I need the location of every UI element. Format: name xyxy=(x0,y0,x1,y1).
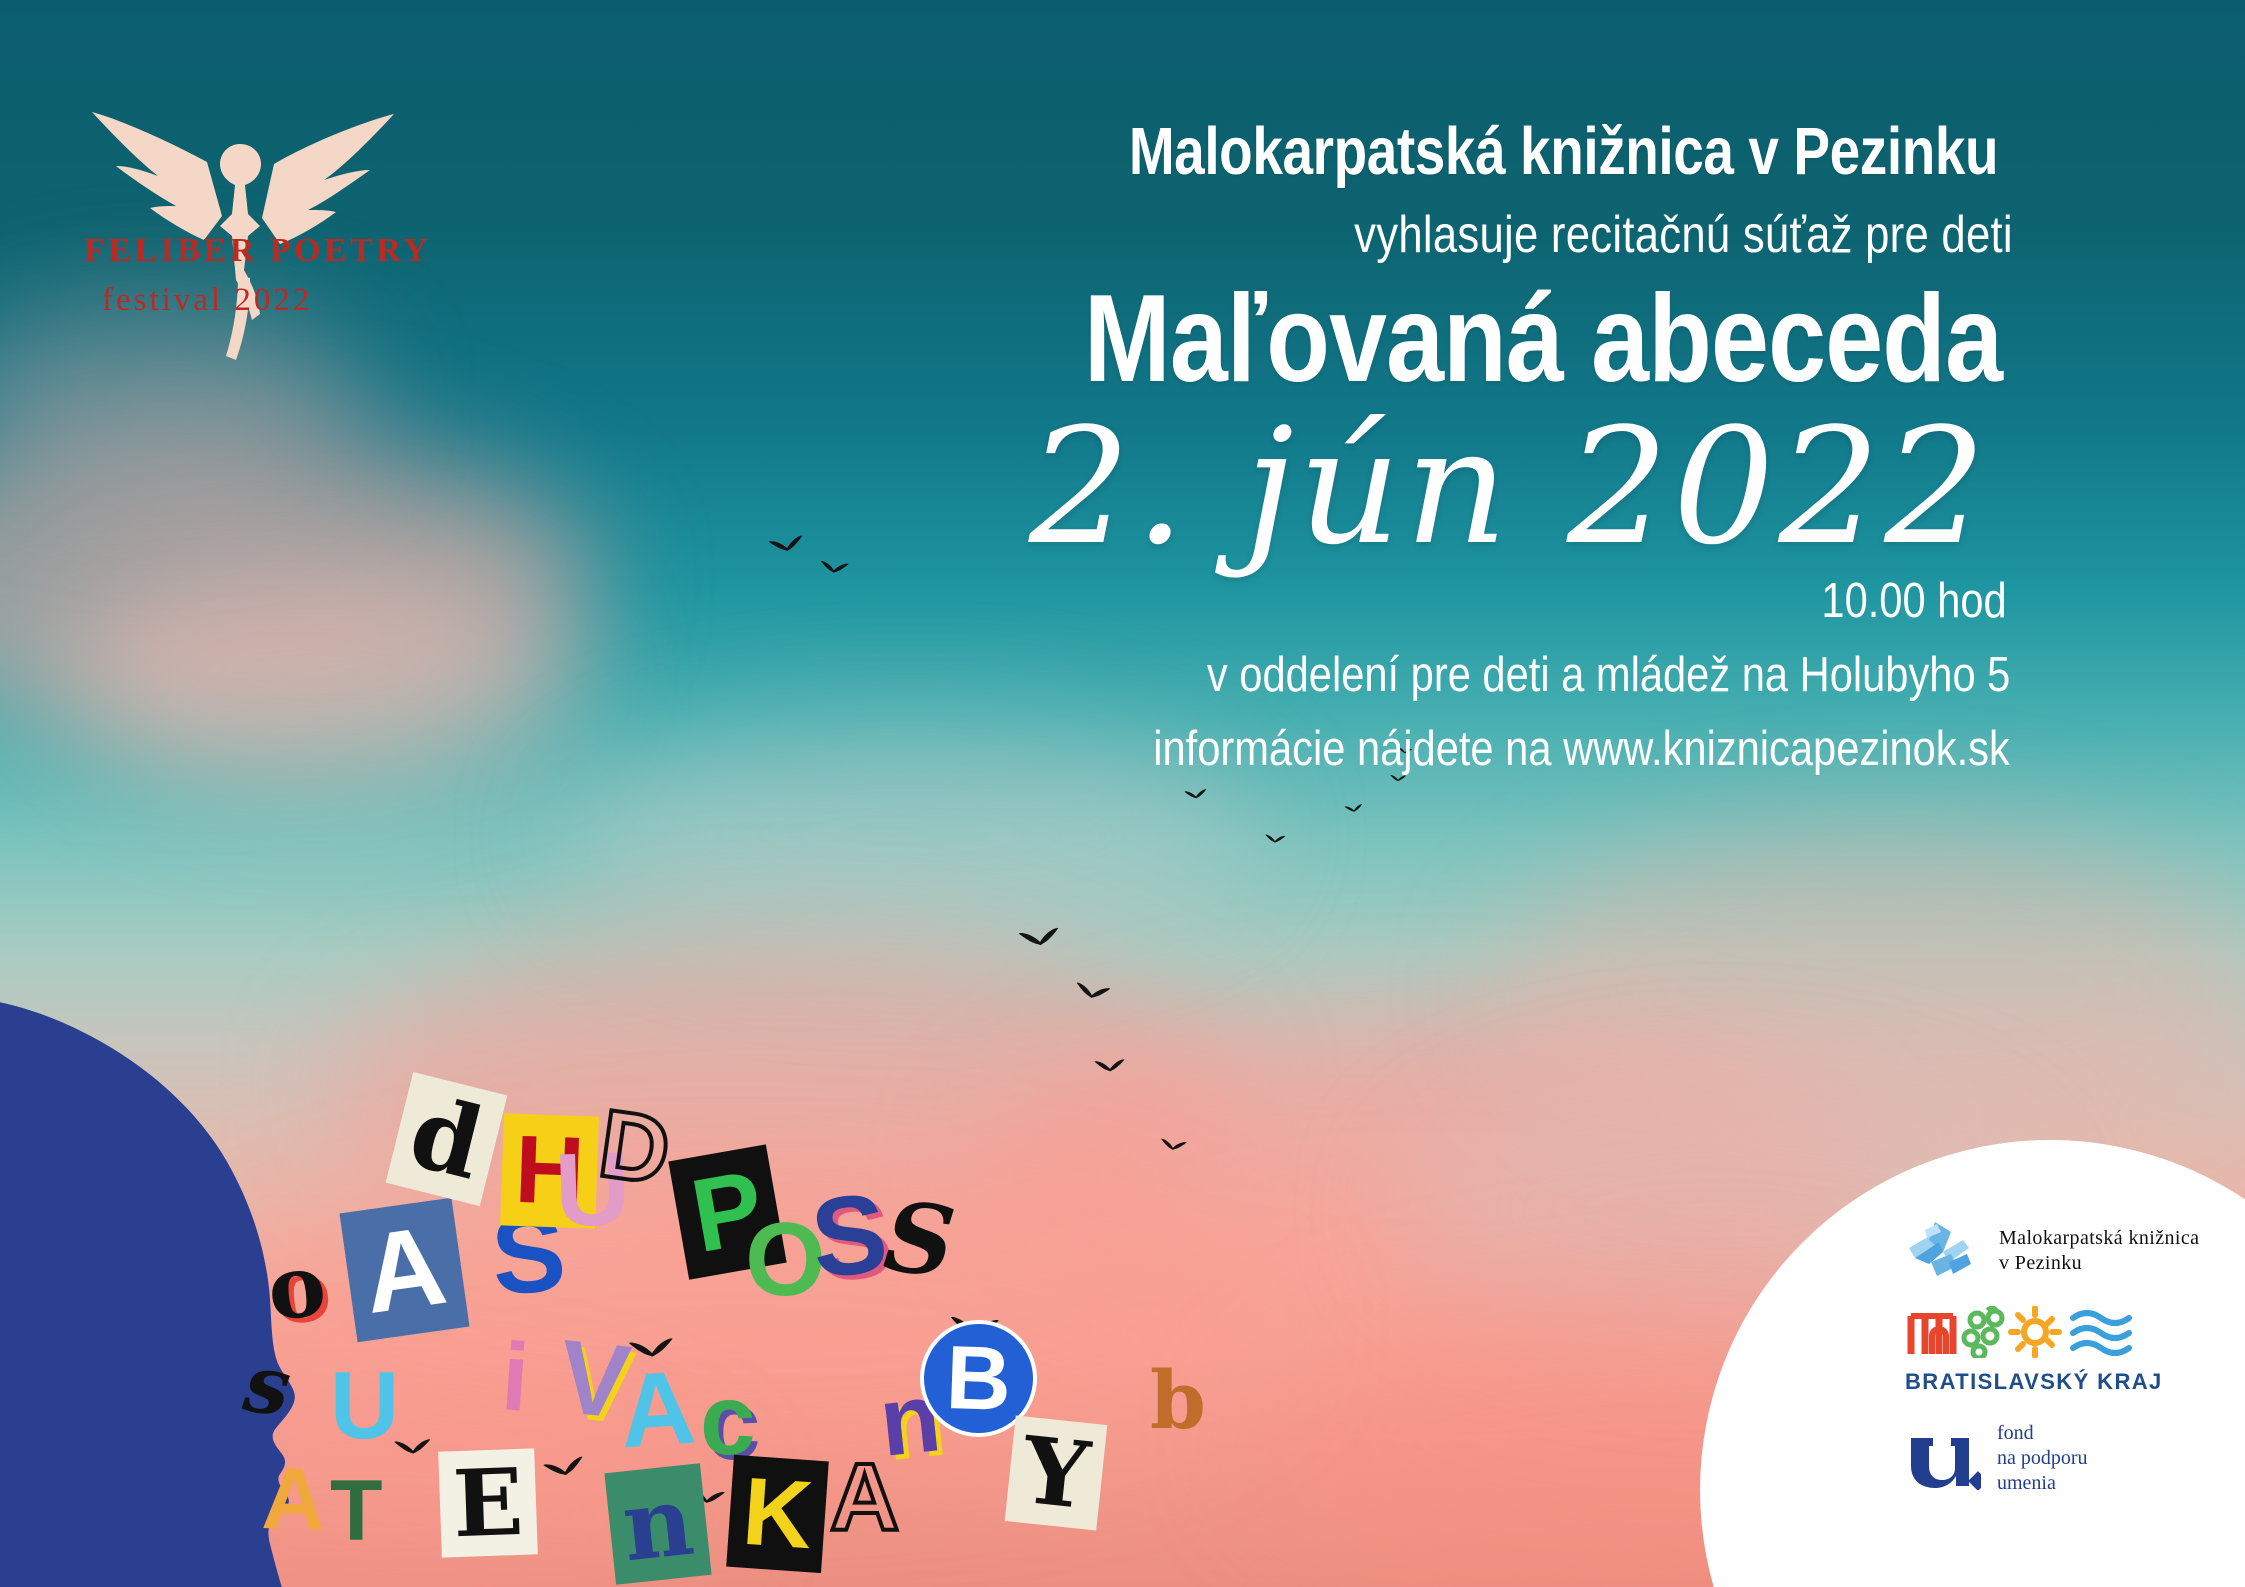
page-title: Maľovaná abeceda xyxy=(1084,277,2002,401)
collage-letter: U xyxy=(330,1358,399,1454)
collage-letter: b xyxy=(1150,1360,1206,1440)
collage-letter: A xyxy=(260,1454,327,1544)
fpu-line-3: umenia xyxy=(1997,1471,2088,1496)
collage-letter: A xyxy=(830,1450,899,1546)
headline-text-block: Malokarpatská knižnica v Pezinku vyhlasu… xyxy=(430,0,2090,777)
collage-letter: S xyxy=(880,1189,959,1292)
library-logo-line-1: Malokarpatská knižnica xyxy=(1999,1226,2199,1251)
bratislavsky-kraj-logo: BRATISLAVSKÝ KRAJ xyxy=(1905,1306,2245,1395)
organizer-line: Malokarpatská knižnica v Pezinku xyxy=(1129,118,1998,186)
collage-letter: A xyxy=(616,1356,698,1465)
logo-line-2: festival 2022 xyxy=(102,282,462,319)
collage-letter: T xyxy=(330,1468,383,1554)
collage-letter: s xyxy=(240,1342,296,1427)
grapes-icon xyxy=(1964,1308,2002,1358)
event-place: v oddelení pre deti a mládež na Holubyho… xyxy=(1207,647,2090,703)
fpu-line-1: fond xyxy=(1997,1421,2088,1446)
announce-line: vyhlasuje recitačnú súťaž pre deti xyxy=(1354,208,2090,263)
fpu-line-2: na podporu xyxy=(1997,1446,2088,1471)
castle-icon xyxy=(1911,1316,1953,1354)
collage-letter: D xyxy=(594,1096,676,1201)
fpu-u-mark-icon xyxy=(1905,1428,1981,1490)
collage-letter: d xyxy=(386,1072,507,1206)
poster-root: FELIBER POETRY festival 2022 Malokarpats… xyxy=(0,0,2245,1587)
malokarpatska-kniznica-logo: Malokarpatská knižnica v Pezinku xyxy=(1905,1218,2245,1284)
logo-line-1: FELIBER POETRY xyxy=(84,232,444,270)
open-book-icon xyxy=(1905,1218,1985,1284)
collage-letter: K xyxy=(726,1455,829,1573)
event-time: 10.00 hod xyxy=(1821,573,2090,629)
letter-collage: oAdSHUDPOSSsUiVAcnBbATEnKAY xyxy=(0,1040,1700,1587)
library-logo-text: Malokarpatská knižnica v Pezinku xyxy=(1999,1226,2199,1276)
bratislavsky-kraj-label: BRATISLAVSKÝ KRAJ xyxy=(1905,1369,2245,1395)
collage-letter: S xyxy=(806,1176,892,1295)
collage-letter: A xyxy=(340,1198,470,1342)
event-date: 2. jún 2022 xyxy=(430,407,2090,567)
collage-letter: i xyxy=(499,1329,532,1427)
sponsor-logos: Malokarpatská knižnica v Pezinku xyxy=(1905,1218,2245,1496)
fond-na-podporu-umenia-logo: fond na podporu umenia xyxy=(1905,1421,2245,1496)
fpu-logo-text: fond na podporu umenia xyxy=(1997,1421,2088,1496)
feliber-poetry-logo: FELIBER POETRY festival 2022 xyxy=(62,84,422,384)
sun-icon xyxy=(2011,1308,2059,1356)
collage-letter: n xyxy=(604,1463,711,1584)
water-icon xyxy=(2073,1313,2129,1353)
collage-letter: o xyxy=(264,1242,330,1334)
library-logo-line-2: v Pezinku xyxy=(1999,1251,2199,1276)
collage-letter: E xyxy=(438,1448,538,1557)
event-website: informácie nájdete na www.kniznicapezino… xyxy=(1154,721,2090,777)
collage-letter: Y xyxy=(1005,1415,1107,1530)
